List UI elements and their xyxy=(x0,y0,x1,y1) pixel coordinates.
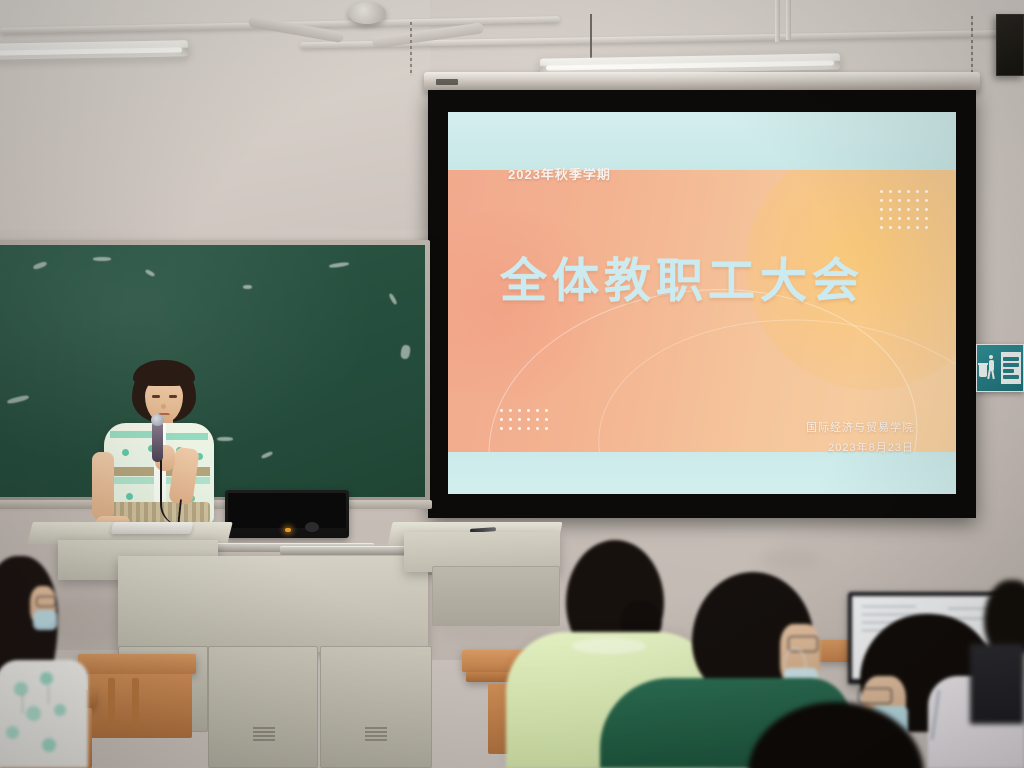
microphone-head xyxy=(151,414,164,426)
wall-speaker xyxy=(996,14,1024,76)
slide-org-text: 国际经济与贸易学院 xyxy=(806,418,914,438)
podium-cabinet-right[interactable] xyxy=(320,646,432,768)
trash-bin-icon xyxy=(979,351,999,385)
sign-text-panel xyxy=(1001,352,1021,384)
glasses-icon xyxy=(36,596,56,607)
wall-stain xyxy=(760,548,820,570)
student-chair-left xyxy=(88,674,192,738)
blackboard xyxy=(0,240,430,502)
glasses-icon xyxy=(858,688,892,704)
screen-brand-logo xyxy=(436,79,458,85)
ceiling-pipe-vertical xyxy=(786,0,791,40)
podium-body xyxy=(118,556,428,652)
desktop-monitor xyxy=(225,490,349,538)
student-desk-left xyxy=(78,654,196,674)
ceiling-fan xyxy=(348,2,386,24)
keyboard[interactable] xyxy=(111,522,194,534)
slide-background xyxy=(448,170,956,452)
projected-slide: 2023年秋季学期 全体教职工大会 国际经济与贸易学院 2023年8月23日 xyxy=(448,112,956,494)
handheld-microphone[interactable] xyxy=(152,420,163,462)
podium-cabinet-left[interactable] xyxy=(208,646,318,768)
slide-kicker-text: 2023年秋季学期 xyxy=(508,164,611,183)
chalk-ledge xyxy=(0,500,432,509)
slide-dots-bottom-left xyxy=(500,409,548,430)
projector-screen-case xyxy=(424,72,980,92)
slide-date-text: 2023年8月23日 xyxy=(806,438,914,458)
presenter-left-arm xyxy=(92,452,114,520)
projection-screen: 2023年秋季学期 全体教职工大会 国际经济与贸易学院 2023年8月23日 xyxy=(428,90,976,518)
slide-dots-top-right xyxy=(880,190,928,229)
audience-dark-top xyxy=(970,644,1024,724)
face-mask xyxy=(33,610,57,630)
slide-title-text: 全体教职工大会 xyxy=(500,242,936,311)
slide-meta-block: 国际经济与贸易学院 2023年8月23日 xyxy=(806,418,914,458)
no-littering-sign xyxy=(976,344,1024,392)
audience-floral-top xyxy=(0,660,88,768)
ceiling-pipe-vertical xyxy=(775,0,780,42)
slide-canvas: 2023年秋季学期 全体教职工大会 国际经济与贸易学院 2023年8月23日 xyxy=(448,112,956,494)
presenter-fringe xyxy=(133,360,195,386)
slide-band-top xyxy=(448,112,956,170)
classroom-photo-scene: 2023年秋季学期 全体教职工大会 国际经济与贸易学院 2023年8月23日 xyxy=(0,0,1024,768)
podium-open-shelf xyxy=(432,566,560,626)
slide-band-bottom xyxy=(448,452,956,494)
screen-chain-left xyxy=(410,22,412,76)
